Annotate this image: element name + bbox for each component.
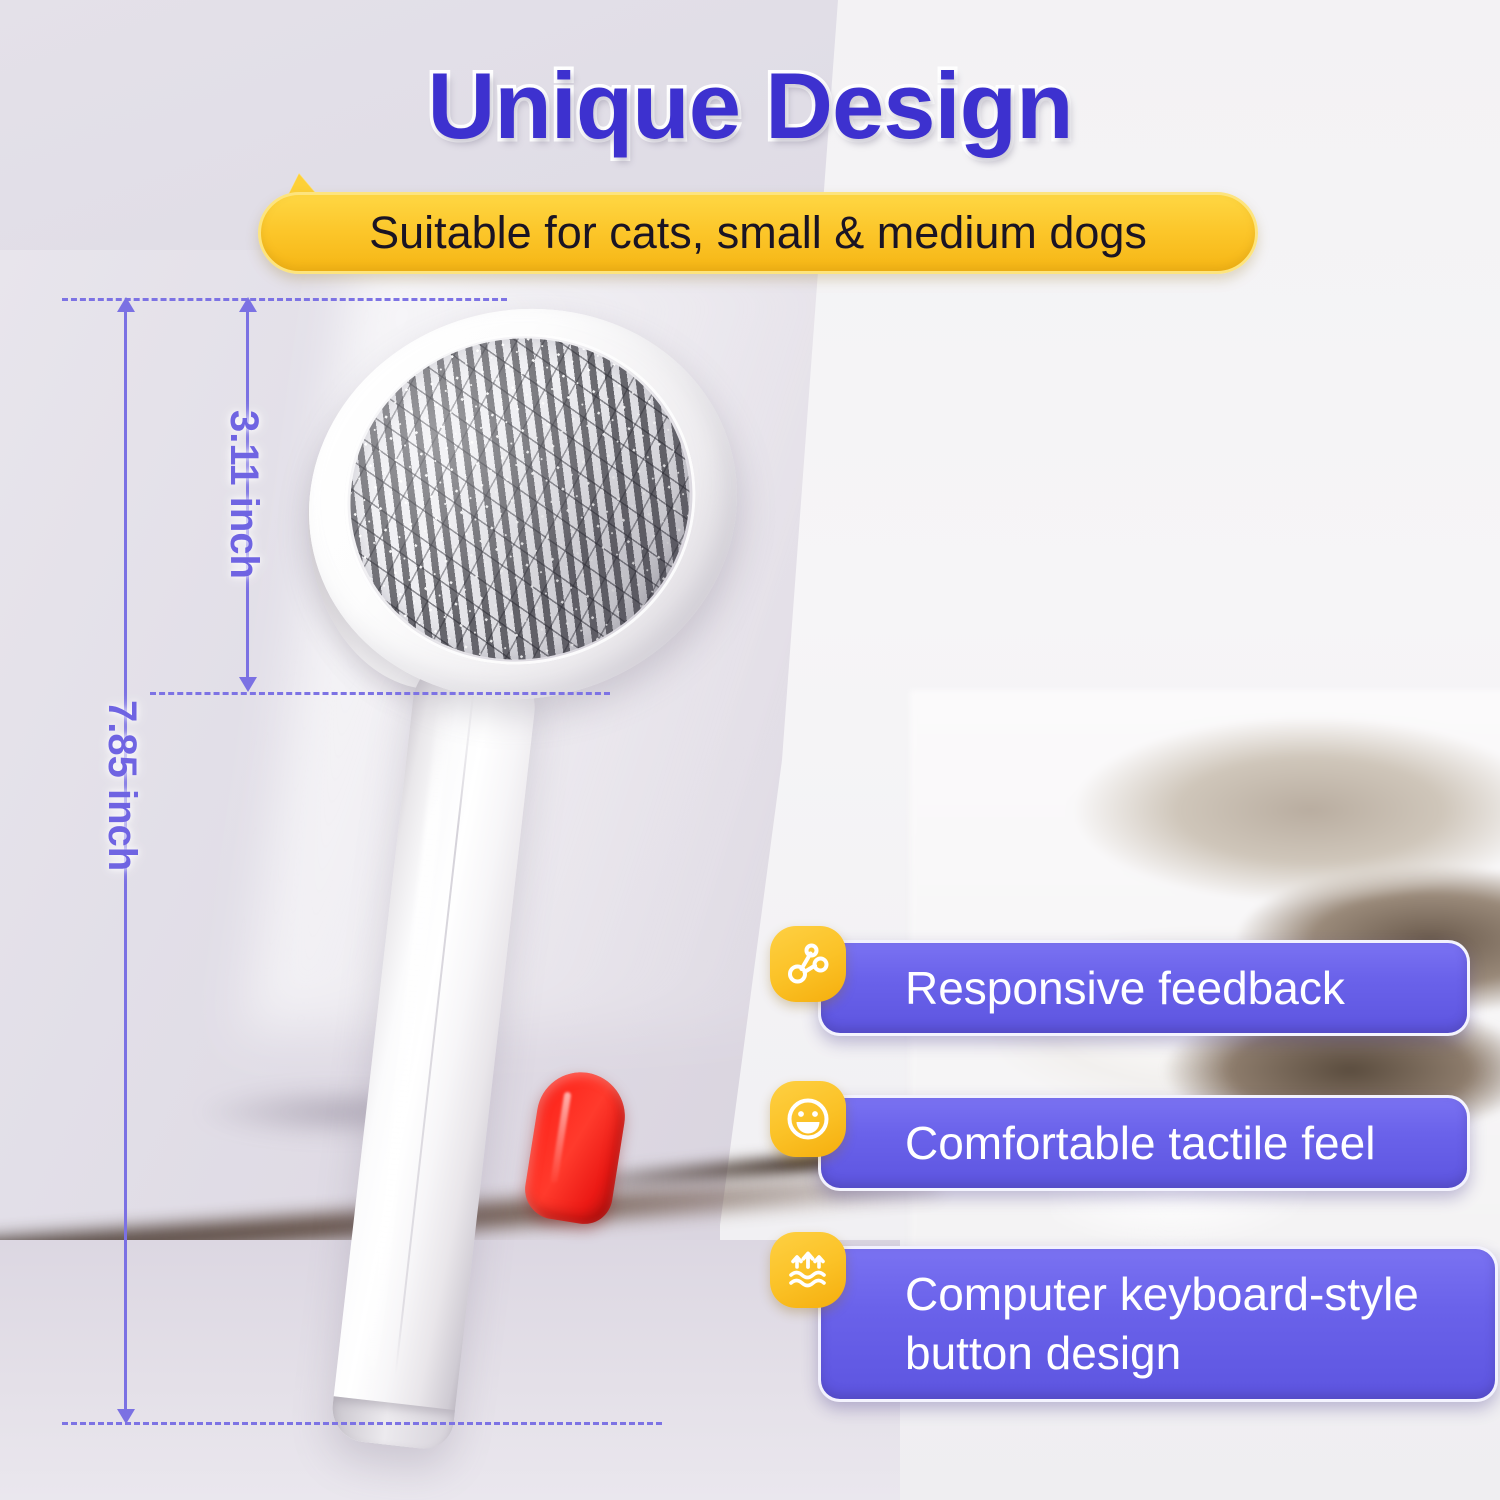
dimension-label-head: 3.11 inch — [221, 410, 266, 579]
share-nodes-icon — [770, 926, 846, 1002]
feature-label-responsive-feedback: Responsive feedback — [818, 940, 1470, 1036]
page-title: Unique Design — [0, 52, 1500, 160]
guide-line-mid — [150, 692, 610, 695]
feature-label-comfortable-tactile-feel: Comfortable tactile feel — [818, 1095, 1470, 1191]
arrow-up-head — [239, 297, 257, 312]
guide-line-bottom — [62, 1422, 662, 1425]
retract-button[interactable] — [521, 1066, 631, 1228]
airflow-waves-icon — [770, 1232, 846, 1308]
subtitle-banner: Suitable for cats, small & medium dogs — [258, 192, 1258, 274]
feature-label-line1: Computer keyboard-style — [905, 1268, 1419, 1320]
feature-label-line2: button design — [905, 1327, 1181, 1379]
subtitle-text: Suitable for cats, small & medium dogs — [258, 192, 1258, 274]
arrow-down-total — [117, 1409, 135, 1424]
dimension-label-total: 7.85 inch — [99, 700, 144, 871]
smiley-face-icon — [770, 1081, 846, 1157]
button-highlight — [550, 1092, 571, 1184]
infographic-canvas: 3.11 inch 7.85 inch Unique Design Suitab… — [0, 0, 1500, 1500]
feature-label-keyboard-style-button: Computer keyboard-style button design — [818, 1246, 1498, 1402]
grooming-brush — [290, 300, 770, 1430]
brush-handle — [329, 653, 540, 1452]
arrow-up-total — [117, 297, 135, 312]
handle-highlight — [360, 696, 453, 1393]
arrow-down-head — [239, 677, 257, 692]
